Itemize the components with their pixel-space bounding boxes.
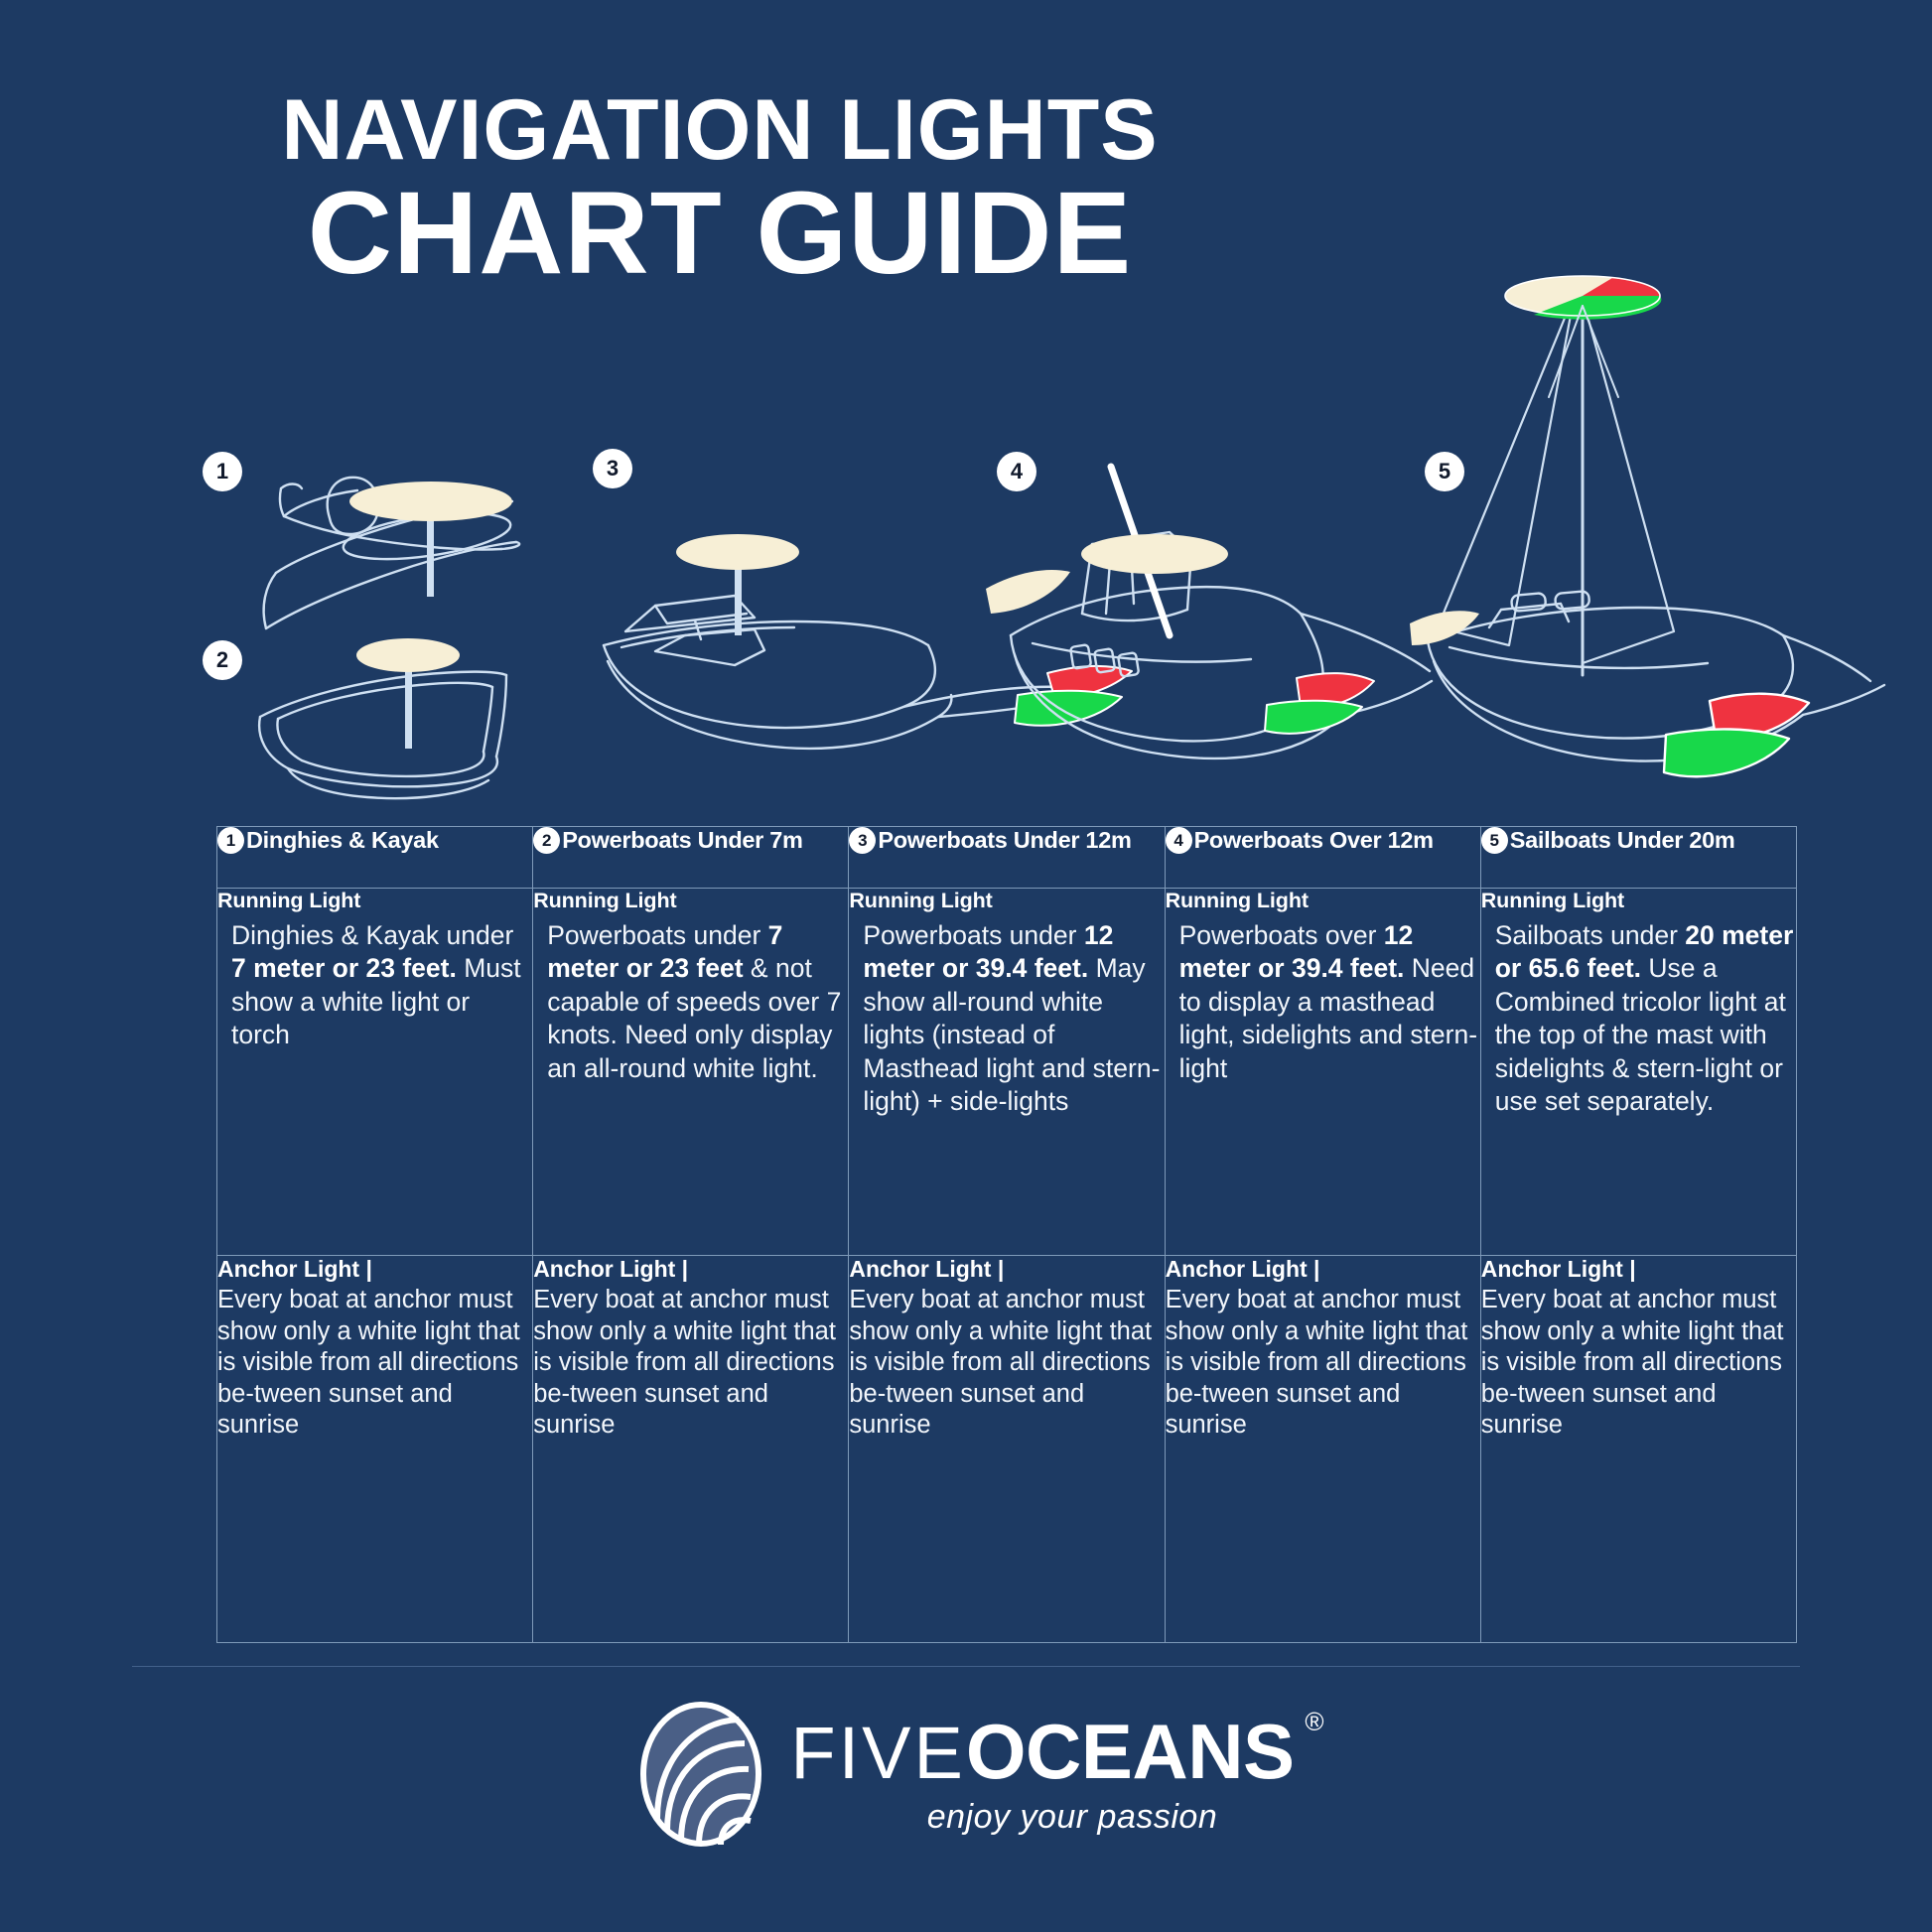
brand-tagline: enjoy your passion <box>790 1798 1294 1837</box>
running-light-text-4: Powerboats over 12 meter or 39.4 feet. N… <box>1166 919 1480 1085</box>
brand-logo: FIVE OCEANS ® enjoy your passion <box>0 1700 1932 1849</box>
boat-badge-2: 2 <box>203 640 242 680</box>
header-label-3: Powerboats Under 12m <box>878 827 1131 854</box>
small-powerboat-all-round-light <box>356 638 460 749</box>
header-label-2: Powerboats Under 7m <box>562 827 802 854</box>
brand-name-bold: OCEANS <box>966 1713 1295 1790</box>
anchor-light-label-1: Anchor Light | <box>217 1256 532 1283</box>
five-oceans-wave-icon <box>637 1700 764 1849</box>
boat-badge-5: 5 <box>1425 452 1464 491</box>
registered-mark-icon: ® <box>1305 1709 1323 1734</box>
boat-badge-4: 4 <box>997 452 1036 491</box>
anchor-light-label-2: Anchor Light | <box>533 1256 848 1283</box>
anchor-light-text-1: Every boat at anchor must show only a wh… <box>217 1285 532 1442</box>
header-badge-1: 1 <box>217 827 244 854</box>
running-light-cell-5: Running Light Sailboats under 20 meter o… <box>1480 889 1796 1256</box>
boat-badge-1: 1 <box>203 452 242 491</box>
green-sidelight-4 <box>1265 701 1362 734</box>
page-title: NAVIGATION LIGHTS CHART GUIDE <box>0 87 1440 292</box>
anchor-light-text-2: Every boat at anchor must show only a wh… <box>533 1285 848 1442</box>
anchor-light-cell-2: Anchor Light | Every boat at anchor must… <box>533 1256 849 1643</box>
column-header-1: 1 Dinghies & Kayak <box>217 827 533 889</box>
anchor-light-text-4: Every boat at anchor must show only a wh… <box>1166 1285 1480 1442</box>
column-header-5: 5 Sailboats Under 20m <box>1480 827 1796 889</box>
header-badge-4: 4 <box>1166 827 1192 854</box>
header-badge-2: 2 <box>533 827 560 854</box>
stern-light-4 <box>986 570 1070 614</box>
anchor-light-label-5: Anchor Light | <box>1481 1256 1796 1283</box>
header-label-4: Powerboats Over 12m <box>1194 827 1434 854</box>
infographic-page: NAVIGATION LIGHTS CHART GUIDE <box>0 0 1932 1932</box>
anchor-light-cell-5: Anchor Light | Every boat at anchor must… <box>1480 1256 1796 1643</box>
running-light-text-3: Powerboats under 12 meter or 39.4 feet. … <box>849 919 1164 1118</box>
navigation-lights-table: 1 Dinghies & Kayak 2 Powerboats Under 7m… <box>216 826 1797 1643</box>
column-header-4: 4 Powerboats Over 12m <box>1165 827 1480 889</box>
running-light-label-2: Running Light <box>533 889 848 913</box>
header-badge-5: 5 <box>1481 827 1508 854</box>
green-sidelight-5 <box>1664 729 1789 776</box>
footer-divider <box>132 1666 1800 1667</box>
running-light-text-2: Powerboats under 7 meter or 23 feet & no… <box>533 919 848 1085</box>
title-line-1: NAVIGATION LIGHTS <box>0 87 1440 175</box>
running-light-cell-3: Running Light Powerboats under 12 meter … <box>849 889 1165 1256</box>
running-light-cell-4: Running Light Powerboats over 12 meter o… <box>1165 889 1480 1256</box>
table-header-row: 1 Dinghies & Kayak 2 Powerboats Under 7m… <box>217 827 1797 889</box>
boat-badge-3: 3 <box>593 449 632 488</box>
anchor-light-label-4: Anchor Light | <box>1166 1256 1480 1283</box>
running-light-label-5: Running Light <box>1481 889 1796 913</box>
brand-name-light: FIVE <box>790 1717 965 1790</box>
column-header-2: 2 Powerboats Under 7m <box>533 827 849 889</box>
title-line-2: CHART GUIDE <box>0 175 1440 292</box>
running-light-row: Running Light Dinghies & Kayak under 7 m… <box>217 889 1797 1256</box>
anchor-light-cell-4: Anchor Light | Every boat at anchor must… <box>1165 1256 1480 1643</box>
running-light-label-1: Running Light <box>217 889 532 913</box>
header-label-5: Sailboats Under 20m <box>1510 827 1735 854</box>
small-powerboat-illustration <box>259 672 506 799</box>
running-light-label-3: Running Light <box>849 889 1164 913</box>
anchor-light-label-3: Anchor Light | <box>849 1256 1164 1283</box>
masthead-light-4 <box>1081 534 1228 574</box>
running-light-cell-2: Running Light Powerboats under 7 meter o… <box>533 889 849 1256</box>
sailboat-under-20m-illustration <box>1428 294 1884 760</box>
column-header-3: 3 Powerboats Under 12m <box>849 827 1165 889</box>
running-light-text-5: Sailboats under 20 meter or 65.6 feet. U… <box>1481 919 1796 1118</box>
running-light-label-4: Running Light <box>1166 889 1480 913</box>
running-light-text-1: Dinghies & Kayak under 7 meter or 23 fee… <box>217 919 532 1052</box>
running-light-cell-1: Running Light Dinghies & Kayak under 7 m… <box>217 889 533 1256</box>
anchor-light-text-3: Every boat at anchor must show only a wh… <box>849 1285 1164 1442</box>
green-sidelight-3 <box>1015 691 1122 726</box>
anchor-light-text-5: Every boat at anchor must show only a wh… <box>1481 1285 1796 1442</box>
anchor-light-cell-1: Anchor Light | Every boat at anchor must… <box>217 1256 533 1643</box>
anchor-light-cell-3: Anchor Light | Every boat at anchor must… <box>849 1256 1165 1643</box>
header-label-1: Dinghies & Kayak <box>246 827 439 854</box>
header-badge-3: 3 <box>849 827 876 854</box>
anchor-light-row: Anchor Light | Every boat at anchor must… <box>217 1256 1797 1643</box>
powerboat-under-12m-illustration <box>604 596 1064 749</box>
